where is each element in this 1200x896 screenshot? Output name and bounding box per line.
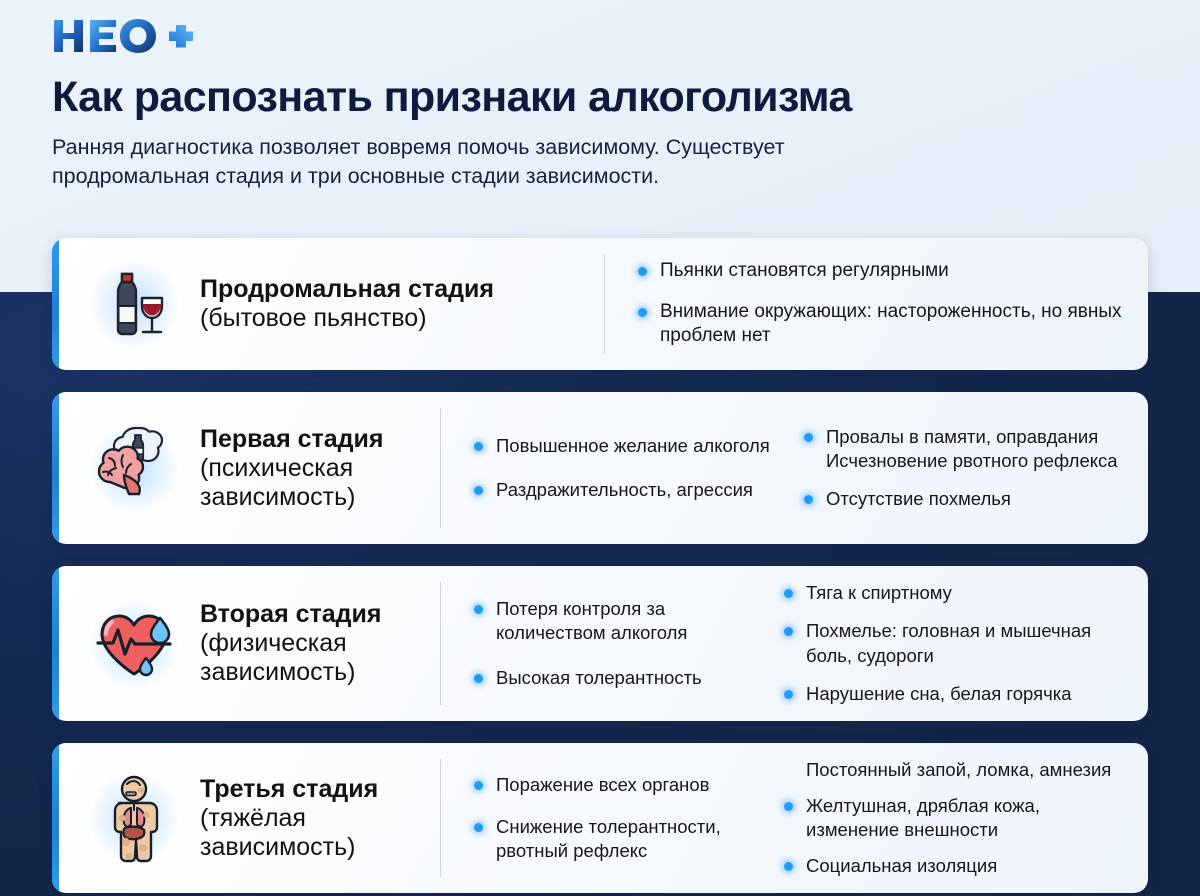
symptom-item: Раздражительность, агрессия <box>472 478 770 502</box>
stage-title-sub: (бытовое пьянство) <box>200 304 494 333</box>
symptom-column: Постоянный запой, ломка, амнезия Желтушн… <box>750 758 1120 878</box>
symptom-item: Социальная изоляция <box>782 854 1120 878</box>
stage-card-prodromal[interactable]: Продромальная стадия (бытовое пьянство) … <box>52 238 1148 370</box>
stage-title: Вторая стадия (физическая зависимость) <box>200 600 440 687</box>
stage-title-main: Первая стадия <box>200 425 440 454</box>
stage-card-first[interactable]: Первая стадия (психическая зависимость) … <box>52 392 1148 544</box>
column-divider <box>440 582 441 705</box>
symptom-item: Пьянки становятся регулярными <box>636 259 1144 284</box>
page-subtitle-line-1: Ранняя диагностика позволяет вовремя пом… <box>52 135 785 159</box>
stage-title-main: Продромальная стадия <box>200 275 494 304</box>
stage-card-second[interactable]: Вторая стадия (физическая зависимость) П… <box>52 566 1148 721</box>
symptom-column: Провалы в памяти, оправдания Исчезновени… <box>770 425 1130 511</box>
column-divider <box>440 408 441 528</box>
stage-symptom-columns: Пьянки становятся регулярными Внимание о… <box>604 238 1148 370</box>
column-divider <box>440 759 441 877</box>
stage-symptom-columns: Поражение всех органов Снижение толерант… <box>440 743 1148 893</box>
heart-with-pulse-and-drop-icon <box>82 592 186 696</box>
symptom-item: Повышенное желание алкоголя <box>472 434 770 458</box>
symptom-item: Высокая толерантность <box>472 666 750 690</box>
symptom-item: Потеря контроля за количеством алкоголя <box>472 597 750 645</box>
stage-card-header: Продромальная стадия (бытовое пьянство) <box>52 238 604 370</box>
stage-title: Первая стадия (психическая зависимость) <box>200 425 440 512</box>
symptom-item: Нарушение сна, белая горячка <box>782 682 1120 706</box>
symptom-item: Снижение толерантности, рвотный рефлекс <box>472 815 750 863</box>
wine-bottle-and-glass-icon <box>82 252 186 356</box>
stage-card-third[interactable]: Третья стадия (тяжёлая зависимость) Пора… <box>52 743 1148 893</box>
stage-title-sub: (физическая зависимость) <box>200 629 440 687</box>
symptom-item: Провалы в памяти, оправдания Исчезновени… <box>802 425 1130 473</box>
symptom-item: Отсутствие похмелья <box>802 487 1130 511</box>
page-subtitle: Ранняя диагностика позволяет вовремя пом… <box>52 133 1112 190</box>
stage-card-header: Третья стадия (тяжёлая зависимость) <box>52 743 440 893</box>
symptom-item: Поражение всех органов <box>472 773 750 797</box>
column-divider <box>604 254 605 354</box>
symptom-column: Повышенное желание алкоголя Раздражитель… <box>440 434 770 502</box>
stage-card-header: Первая стадия (психическая зависимость) <box>52 392 440 544</box>
page-title: Как распознать признаки алкоголизма <box>52 74 1162 120</box>
stage-title-sub: (тяжёлая зависимость) <box>200 804 440 862</box>
brand-logo <box>52 14 1162 58</box>
stage-title-main: Третья стадия <box>200 775 440 804</box>
symptom-column: Поражение всех органов Снижение толерант… <box>440 773 750 863</box>
stage-title-sub: (психическая зависимость) <box>200 454 440 512</box>
symptom-item: Внимание окружающих: настороженность, но… <box>636 300 1144 349</box>
symptom-column: Пьянки становятся регулярными Внимание о… <box>604 259 1144 349</box>
page-subtitle-line-2: продромальная стадия и три основные стад… <box>52 164 659 188</box>
symptom-item: Похмелье: головная и мышечная боль, судо… <box>782 619 1120 667</box>
human-body-organs-icon <box>82 766 186 870</box>
stage-title: Продромальная стадия (бытовое пьянство) <box>200 275 494 333</box>
stage-card-list: Продромальная стадия (бытовое пьянство) … <box>52 238 1148 893</box>
symptom-item: Желтушная, дряблая кожа, изменение внешн… <box>782 794 1120 842</box>
stage-symptom-columns: Повышенное желание алкоголя Раздражитель… <box>440 392 1148 544</box>
stage-symptom-columns: Потеря контроля за количеством алкоголя … <box>440 566 1148 721</box>
stage-title: Третья стадия (тяжёлая зависимость) <box>200 775 440 862</box>
symptom-column: Тяга к спиртному Похмелье: головная и мы… <box>750 581 1120 705</box>
stage-title-main: Вторая стадия <box>200 600 440 629</box>
symptom-column: Потеря контроля за количеством алкоголя … <box>440 597 750 689</box>
symptom-item: Тяга к спиртному <box>782 581 1120 605</box>
symptom-item: Постоянный запой, ломка, амнезия <box>782 758 1120 782</box>
header: Как распознать признаки алкоголизма Ранн… <box>52 14 1162 191</box>
stage-card-header: Вторая стадия (физическая зависимость) <box>52 566 440 721</box>
neo-plus-logo-icon <box>52 16 212 56</box>
brain-with-thought-bubble-icon <box>82 416 186 520</box>
